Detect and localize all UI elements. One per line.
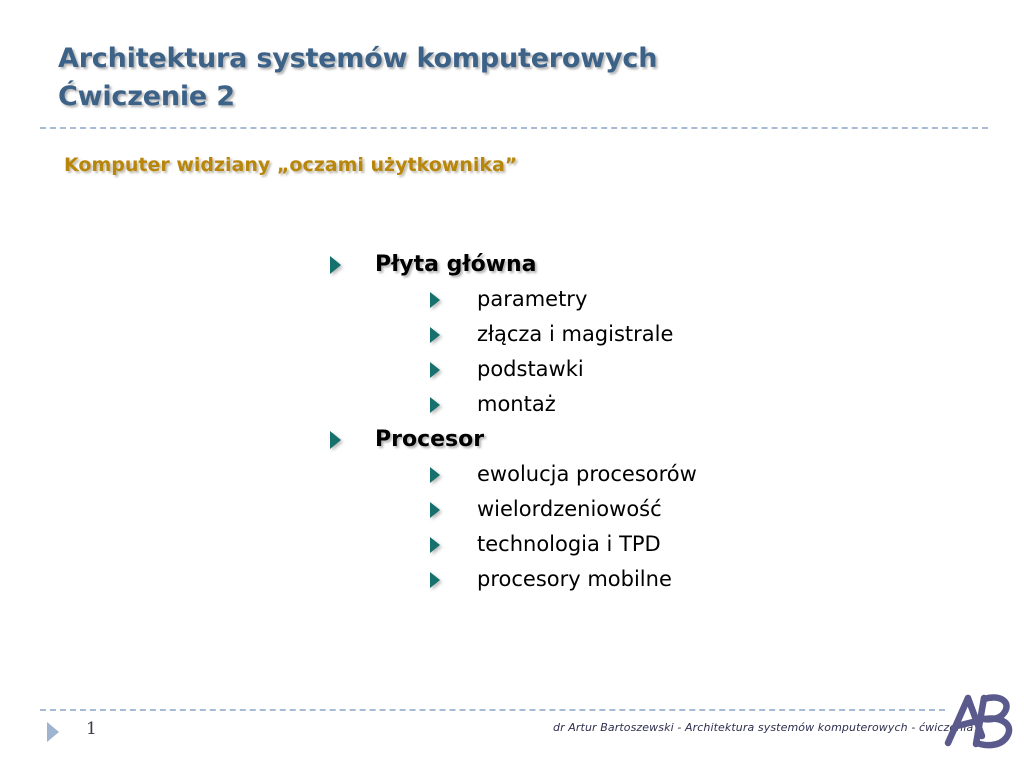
slide-number: 1 — [86, 719, 97, 739]
presentation-slide: Architektura systemów komputerowych Ćwic… — [0, 0, 1024, 768]
outline-item-level2: ewolucja procesorów — [430, 459, 950, 489]
triangle-bullet-icon — [330, 431, 341, 449]
outline-item-label: technologia i TPD — [477, 529, 661, 559]
outline-item-level2: podstawki — [430, 354, 950, 384]
slide-title: Architektura systemów komputerowych Ćwic… — [58, 40, 938, 116]
outline-item-level2: złącza i magistrale — [430, 319, 950, 349]
triangle-bullet-icon — [430, 537, 440, 553]
outline-item-label: podstawki — [477, 354, 584, 384]
triangle-bullet-icon — [430, 292, 440, 308]
triangle-bullet-icon — [430, 502, 440, 518]
outline-item-level2: montaż — [430, 389, 950, 419]
outline-item-level1: Procesor — [330, 425, 950, 455]
ab-logo-icon — [940, 688, 1020, 760]
outline-item-level2: procesory mobilne — [430, 564, 950, 594]
outline-item-label: procesory mobilne — [477, 564, 672, 594]
outline-item-label: Płyta główna — [375, 250, 537, 280]
footer-divider — [40, 709, 945, 711]
outline-item-level2: parametry — [430, 284, 950, 314]
triangle-bullet-icon — [330, 256, 341, 274]
outline-item-label: wielordzeniowość — [477, 494, 662, 524]
title-line-1: Architektura systemów komputerowych — [58, 40, 938, 78]
title-divider — [40, 127, 988, 129]
outline-item-label: Procesor — [375, 425, 484, 455]
outline-item-level2: wielordzeniowość — [430, 494, 950, 524]
triangle-bullet-icon — [430, 397, 440, 413]
outline-item-label: ewolucja procesorów — [477, 459, 697, 489]
triangle-bullet-icon — [430, 467, 440, 483]
triangle-bullet-icon — [430, 362, 440, 378]
triangle-bullet-icon — [430, 327, 440, 343]
ab-monogram-logo — [940, 688, 1020, 760]
slide-subtitle: Komputer widziany „oczami użytkownika” — [64, 154, 517, 176]
outline-item-label: parametry — [477, 284, 587, 314]
outline-list: Płyta głównaparametryzłącza i magistrale… — [330, 248, 950, 594]
triangle-bullet-icon — [430, 572, 440, 588]
footer-triangle-icon — [47, 722, 59, 742]
outline-item-level1: Płyta główna — [330, 250, 950, 280]
outline-item-label: złącza i magistrale — [477, 319, 673, 349]
outline-item-label: montaż — [477, 389, 556, 419]
footer-credit: dr Artur Bartoszewski - Architektura sys… — [553, 721, 973, 734]
outline-item-level2: technologia i TPD — [430, 529, 950, 559]
title-line-2: Ćwiczenie 2 — [58, 78, 938, 116]
